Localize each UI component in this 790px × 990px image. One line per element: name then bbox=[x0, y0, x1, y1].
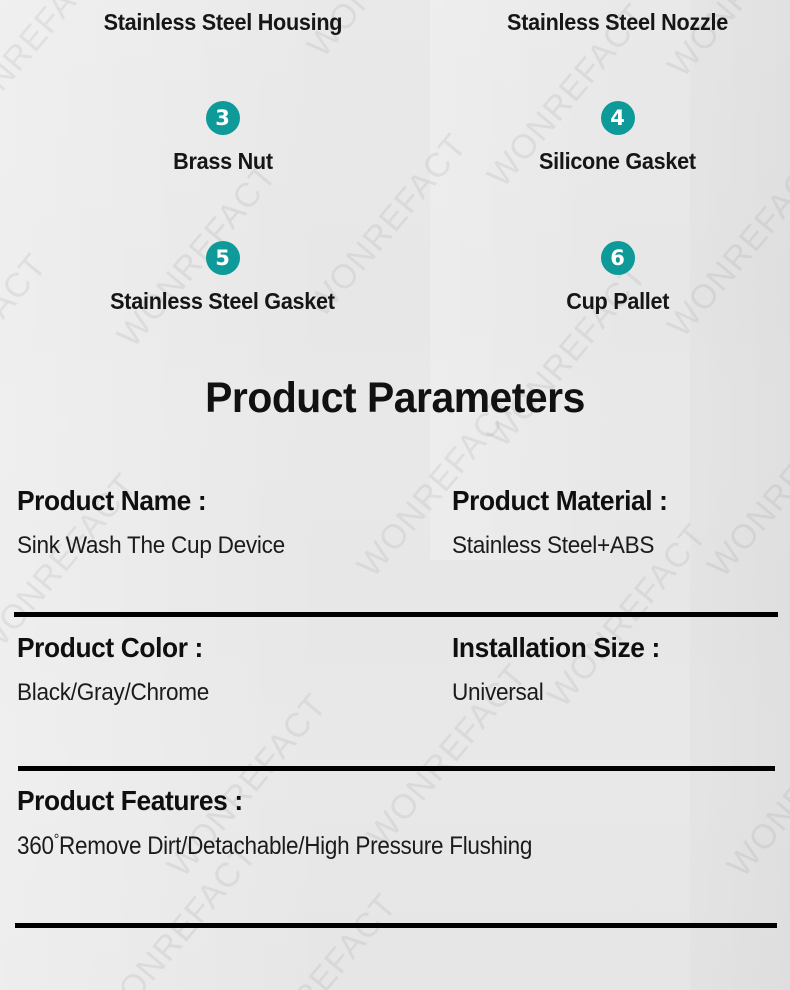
parameter-divider-1 bbox=[14, 612, 778, 617]
product-spec-page: WONREFACTWONREFACTWONREFACTWONREFACTWONR… bbox=[0, 0, 790, 990]
parameter-label-installation-size: Installation Size : bbox=[452, 633, 770, 662]
product-parameters-table-row2: Product Color : Black/Gray/Chrome Instal… bbox=[0, 633, 790, 706]
component-item-2[interactable]: 2 Stainless Steel Nozzle bbox=[445, 0, 790, 36]
parameter-row-3: Product Features : 360°Remove Dirt/Detac… bbox=[0, 786, 790, 860]
parameter-label-product-material: Product Material : bbox=[452, 486, 770, 515]
component-item-5[interactable]: 5 Stainless Steel Gasket bbox=[0, 241, 445, 315]
parameter-cell-product-features: Product Features : 360°Remove Dirt/Detac… bbox=[0, 786, 790, 860]
parameter-cell-product-color: Product Color : Black/Gray/Chrome bbox=[0, 633, 426, 706]
parameter-value-product-features: 360°Remove Dirt/Detachable/High Pressure… bbox=[17, 833, 713, 859]
parameter-value-product-name: Sink Wash The Cup Device bbox=[17, 533, 401, 558]
component-label-3: Brass Nut bbox=[173, 148, 273, 175]
components-row-1: 1 Stainless Steel Housing 2 Stainless St… bbox=[0, 0, 790, 36]
parameter-cell-installation-size: Installation Size : Universal bbox=[426, 633, 790, 706]
parameter-row-1: Product Name : Sink Wash The Cup Device … bbox=[0, 486, 790, 559]
component-number-badge-6: 6 bbox=[601, 241, 635, 275]
parameter-value-installation-size: Universal bbox=[452, 680, 770, 705]
features-value-suffix: Remove Dirt/Detachable/High Pressure Flu… bbox=[59, 832, 532, 860]
component-label-4: Silicone Gasket bbox=[539, 148, 696, 175]
component-number-badge-5: 5 bbox=[206, 241, 240, 275]
component-item-3[interactable]: 3 Brass Nut bbox=[0, 101, 445, 175]
component-item-4[interactable]: 4 Silicone Gasket bbox=[445, 101, 790, 175]
parameter-label-product-name: Product Name : bbox=[17, 486, 401, 515]
parameter-label-product-color: Product Color : bbox=[17, 633, 401, 662]
product-parameters-table: Product Name : Sink Wash The Cup Device … bbox=[0, 486, 790, 559]
component-label-2: Stainless Steel Nozzle bbox=[507, 9, 728, 36]
parameter-row-2: Product Color : Black/Gray/Chrome Instal… bbox=[0, 633, 790, 706]
parameter-label-product-features: Product Features : bbox=[17, 786, 744, 815]
components-row-2: 3 Brass Nut 4 Silicone Gasket bbox=[0, 101, 790, 175]
parameter-cell-product-name: Product Name : Sink Wash The Cup Device bbox=[0, 486, 426, 559]
component-number-badge-4: 4 bbox=[601, 101, 635, 135]
parameter-divider-2 bbox=[18, 766, 775, 771]
parameter-divider-3 bbox=[15, 923, 777, 928]
section-title-product-parameters: Product Parameters bbox=[20, 374, 771, 423]
parameter-cell-product-material: Product Material : Stainless Steel+ABS bbox=[426, 486, 790, 559]
features-value-prefix: 360 bbox=[17, 832, 54, 860]
component-item-6[interactable]: 6 Cup Pallet bbox=[445, 241, 790, 315]
components-row-3: 5 Stainless Steel Gasket 6 Cup Pallet bbox=[0, 241, 790, 315]
component-label-6: Cup Pallet bbox=[566, 288, 669, 315]
component-item-1[interactable]: 1 Stainless Steel Housing bbox=[0, 0, 445, 36]
parameter-value-product-material: Stainless Steel+ABS bbox=[452, 533, 770, 558]
parameter-value-product-color: Black/Gray/Chrome bbox=[17, 680, 401, 705]
component-label-1: Stainless Steel Housing bbox=[103, 9, 342, 36]
watermark-text: WONREFACT bbox=[230, 887, 405, 990]
component-number-badge-3: 3 bbox=[206, 101, 240, 135]
component-label-5: Stainless Steel Gasket bbox=[110, 288, 335, 315]
product-parameters-table-features: Product Features : 360°Remove Dirt/Detac… bbox=[0, 786, 790, 860]
